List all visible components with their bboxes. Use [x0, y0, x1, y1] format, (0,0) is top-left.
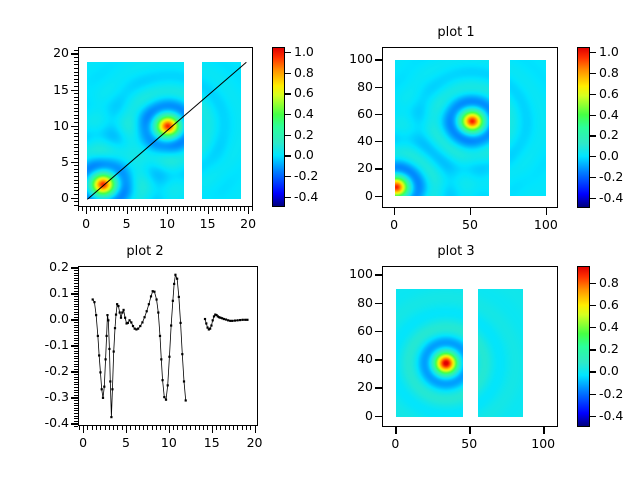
x-minor-tick	[195, 426, 196, 430]
data-point-marker	[150, 295, 152, 297]
y-minor-tick	[74, 288, 78, 289]
colorbar-top-right	[577, 47, 590, 208]
y-minor-tick	[74, 358, 78, 359]
y-minor-tick	[74, 75, 78, 76]
y-minor-tick	[74, 140, 78, 141]
x-minor-tick	[250, 426, 251, 430]
colorbar-tick	[590, 394, 596, 395]
y-ticklabel: 40	[313, 133, 373, 148]
colorbar-ticklabel: 0.4	[599, 319, 619, 334]
y-minor-tick	[74, 61, 78, 62]
data-point-marker	[227, 319, 229, 321]
data-point-marker	[97, 335, 99, 337]
y-minor-tick	[74, 317, 78, 318]
y-major-tick	[375, 87, 382, 88]
x-minor-tick	[151, 207, 152, 211]
y-minor-tick	[74, 413, 78, 414]
colorbar-bottom-right	[577, 266, 590, 427]
x-minor-tick	[232, 207, 233, 211]
data-point-marker	[176, 278, 178, 280]
y-major-tick	[71, 423, 78, 424]
data-point-marker	[165, 399, 167, 401]
y-ticklabel: -0.1	[9, 337, 69, 352]
x-minor-tick	[98, 207, 99, 211]
y-major-tick	[375, 387, 382, 388]
x-ticklabel: 0	[370, 436, 420, 451]
data-point-marker	[108, 348, 110, 350]
data-point-marker	[92, 298, 94, 300]
y-minor-tick	[74, 86, 78, 87]
y-ticklabel: 0.1	[9, 285, 69, 300]
colorbar-ticklabel: 0.0	[294, 147, 314, 162]
data-point-marker	[155, 298, 157, 300]
x-minor-tick	[173, 426, 174, 430]
y-minor-tick	[74, 421, 78, 422]
colorbar-tick	[285, 114, 291, 115]
y-minor-tick	[74, 364, 78, 365]
y-major-tick	[71, 371, 78, 372]
y-minor-tick	[74, 111, 78, 112]
y-minor-tick	[74, 332, 78, 333]
y-minor-tick	[74, 356, 78, 357]
x-minor-tick	[246, 426, 247, 430]
y-minor-tick	[74, 169, 78, 170]
colorbar-ticklabel: 0.8	[599, 65, 619, 80]
y-minor-tick	[74, 325, 78, 326]
y-minor-tick	[74, 353, 78, 354]
x-major-tick	[127, 207, 128, 214]
x-minor-tick	[186, 426, 187, 430]
data-point-marker	[139, 325, 141, 327]
line-path	[205, 315, 247, 330]
y-minor-tick	[74, 379, 78, 380]
x-minor-tick	[187, 207, 188, 211]
axes-top-left	[78, 47, 253, 207]
y-major-tick	[71, 162, 78, 163]
colorbar-tick	[590, 135, 596, 136]
data-point-marker	[170, 324, 172, 326]
y-major-tick	[375, 303, 382, 304]
y-minor-tick	[74, 390, 78, 391]
y-minor-tick	[74, 72, 78, 73]
colorbar-tick	[285, 155, 291, 156]
y-minor-tick	[74, 426, 78, 427]
x-minor-tick	[135, 207, 136, 211]
x-minor-tick	[123, 207, 124, 211]
x-minor-tick	[240, 207, 241, 211]
y-major-tick	[71, 90, 78, 91]
y-minor-tick	[74, 115, 78, 116]
data-point-marker	[132, 325, 134, 327]
colorbar-tick	[590, 305, 596, 306]
y-minor-tick	[74, 392, 78, 393]
y-minor-tick	[74, 403, 78, 404]
data-point-marker	[121, 311, 123, 313]
data-point-marker	[117, 305, 119, 307]
y-minor-tick	[74, 180, 78, 181]
y-minor-tick	[74, 100, 78, 101]
x-minor-tick	[195, 207, 196, 211]
x-minor-tick	[102, 207, 103, 211]
data-point-marker	[210, 324, 212, 326]
y-minor-tick	[74, 187, 78, 188]
x-ticklabel: 0	[369, 217, 419, 232]
y-ticklabel: 0	[313, 188, 373, 203]
colorbar-gradient	[578, 267, 589, 426]
x-minor-tick	[139, 207, 140, 211]
y-minor-tick	[74, 304, 78, 305]
y-major-tick	[375, 274, 382, 275]
colorbar-ticklabel: -0.4	[599, 408, 623, 423]
x-major-tick	[470, 208, 471, 215]
colorbar-ticklabel: 0.0	[599, 148, 619, 163]
y-ticklabel: -0.2	[9, 363, 69, 378]
y-minor-tick	[74, 93, 78, 94]
data-point-marker	[120, 317, 122, 319]
data-point-marker	[223, 318, 225, 320]
x-minor-tick	[147, 426, 148, 430]
x-minor-tick	[212, 207, 213, 211]
colorbar-tick	[590, 177, 596, 178]
y-ticklabel: -0.4	[9, 415, 69, 430]
data-point-marker	[107, 319, 109, 321]
y-ticklabel: 0.2	[9, 259, 69, 274]
data-point-marker	[231, 320, 233, 322]
subplot-bottom-left: plot 2 05101520-0.4-0.3-0.2-0.10.00.10.2	[0, 240, 320, 480]
colorbar-tick	[285, 93, 291, 94]
colorbar-tick	[590, 371, 596, 372]
data-point-marker	[172, 300, 174, 302]
data-point-marker	[101, 388, 103, 390]
x-minor-tick	[159, 207, 160, 211]
data-point-marker	[109, 380, 111, 382]
data-point-marker	[130, 321, 132, 323]
y-minor-tick	[74, 369, 78, 370]
colorbar-ticklabel: 0.4	[294, 106, 314, 121]
x-major-tick	[86, 207, 87, 214]
y-major-tick	[375, 416, 382, 417]
y-ticklabel: 0	[9, 190, 69, 205]
x-minor-tick	[94, 207, 95, 211]
y-ticklabel: 15	[9, 82, 69, 97]
data-point-marker	[111, 388, 113, 390]
y-minor-tick	[74, 278, 78, 279]
x-minor-tick	[191, 207, 192, 211]
x-minor-tick	[252, 207, 253, 211]
y-minor-tick	[74, 286, 78, 287]
colorbar-ticklabel: 0.6	[599, 86, 619, 101]
x-major-tick	[208, 207, 209, 214]
x-minor-tick	[177, 426, 178, 430]
data-point-marker	[153, 291, 155, 293]
y-minor-tick	[74, 158, 78, 159]
y-major-tick	[375, 59, 382, 60]
x-ticklabel: 20	[223, 216, 273, 231]
x-minor-tick	[90, 207, 91, 211]
y-ticklabel: 20	[9, 45, 69, 60]
colorbar-ticklabel: 0.6	[599, 297, 619, 312]
y-minor-tick	[74, 165, 78, 166]
colorbar-tick	[285, 52, 291, 53]
y-minor-tick	[74, 330, 78, 331]
colorbar-ticklabel: -0.2	[599, 386, 623, 401]
y-minor-tick	[74, 416, 78, 417]
y-minor-tick	[74, 194, 78, 195]
y-ticklabel: 80	[313, 295, 373, 310]
x-minor-tick	[225, 426, 226, 430]
y-minor-tick	[74, 361, 78, 362]
x-minor-tick	[114, 207, 115, 211]
colorbar-gradient	[578, 48, 589, 207]
data-point-marker	[163, 396, 165, 398]
x-major-tick	[469, 427, 470, 434]
x-minor-tick	[117, 426, 118, 430]
x-minor-tick	[96, 426, 97, 430]
y-minor-tick	[74, 301, 78, 302]
data-point-marker	[234, 319, 236, 321]
y-minor-tick	[74, 374, 78, 375]
data-point-marker	[236, 319, 238, 321]
y-minor-tick	[74, 340, 78, 341]
y-ticklabel: 10	[9, 118, 69, 133]
data-point-marker	[102, 397, 104, 399]
y-ticklabel: -0.3	[9, 389, 69, 404]
y-major-tick	[375, 168, 382, 169]
y-minor-tick	[74, 176, 78, 177]
figure-canvas: 0510152005101520 -0.4-0.20.00.20.40.60.8…	[0, 0, 640, 480]
y-ticklabel: 0.0	[9, 311, 69, 326]
data-point-marker	[159, 335, 161, 337]
x-minor-tick	[224, 207, 225, 211]
y-minor-tick	[74, 395, 78, 396]
y-minor-tick	[74, 405, 78, 406]
x-minor-tick	[155, 207, 156, 211]
y-minor-tick	[74, 273, 78, 274]
y-minor-tick	[74, 338, 78, 339]
x-minor-tick	[82, 207, 83, 211]
x-major-tick	[126, 426, 127, 433]
y-ticklabel: 80	[313, 79, 373, 94]
heatmap-patch-a	[87, 62, 184, 199]
data-point-marker	[174, 274, 176, 276]
y-minor-tick	[74, 410, 78, 411]
data-point-marker	[143, 316, 145, 318]
data-point-marker	[137, 328, 139, 330]
x-ticklabel: 20	[230, 435, 280, 450]
data-point-marker	[146, 310, 148, 312]
x-minor-tick	[105, 426, 106, 430]
y-ticklabel: 20	[313, 160, 373, 175]
x-minor-tick	[175, 207, 176, 211]
plot-title-1: plot 1	[320, 25, 592, 40]
x-minor-tick	[229, 426, 230, 430]
data-point-marker	[181, 353, 183, 355]
y-minor-tick	[74, 151, 78, 152]
y-ticklabel: 100	[313, 266, 373, 281]
x-minor-tick	[122, 426, 123, 430]
x-minor-tick	[152, 426, 153, 430]
x-minor-tick	[199, 426, 200, 430]
y-ticklabel: 5	[9, 154, 69, 169]
y-minor-tick	[74, 133, 78, 134]
colorbar-ticklabel: 0.8	[599, 275, 619, 290]
colorbar-tick	[285, 73, 291, 74]
colorbar-ticklabel: -0.4	[599, 190, 623, 205]
y-major-tick	[71, 126, 78, 127]
axes-bottom-left	[78, 266, 258, 426]
data-point-marker	[212, 319, 214, 321]
colorbar-ticklabel: 0.2	[294, 127, 314, 142]
data-point-marker	[93, 301, 95, 303]
x-minor-tick	[143, 426, 144, 430]
x-minor-tick	[228, 207, 229, 211]
data-point-marker	[110, 416, 112, 418]
y-minor-tick	[74, 154, 78, 155]
y-ticklabel: 100	[313, 51, 373, 66]
y-minor-tick	[74, 314, 78, 315]
x-major-tick	[546, 208, 547, 215]
data-point-marker	[148, 303, 150, 305]
data-point-marker	[98, 354, 100, 356]
data-point-marker	[141, 321, 143, 323]
x-minor-tick	[216, 426, 217, 430]
y-ticklabel: 20	[313, 379, 373, 394]
x-minor-tick	[135, 426, 136, 430]
y-minor-tick	[74, 172, 78, 173]
x-minor-tick	[130, 426, 131, 430]
line-path	[93, 275, 186, 417]
colorbar-ticklabel: 1.0	[599, 44, 619, 59]
colorbar-tick	[590, 73, 596, 74]
colorbar-tick	[590, 198, 596, 199]
y-minor-tick	[74, 147, 78, 148]
y-minor-tick	[74, 366, 78, 367]
y-minor-tick	[74, 382, 78, 383]
x-minor-tick	[109, 426, 110, 430]
colorbar-ticklabel: 0.8	[294, 65, 314, 80]
colorbar-ticklabel: 0.0	[599, 363, 619, 378]
x-minor-tick	[204, 207, 205, 211]
x-minor-tick	[113, 426, 114, 430]
y-major-tick	[71, 293, 78, 294]
x-minor-tick	[100, 426, 101, 430]
y-minor-tick	[74, 64, 78, 65]
y-minor-tick	[74, 377, 78, 378]
y-minor-tick	[74, 280, 78, 281]
axes-bottom-right	[382, 266, 558, 427]
x-major-tick	[394, 208, 395, 215]
data-point-marker	[114, 327, 116, 329]
y-minor-tick	[74, 190, 78, 191]
x-minor-tick	[143, 207, 144, 211]
x-ticklabel: 50	[444, 436, 494, 451]
y-major-tick	[375, 141, 382, 142]
x-minor-tick	[237, 426, 238, 430]
x-minor-tick	[220, 207, 221, 211]
y-major-tick	[71, 53, 78, 54]
x-minor-tick	[78, 207, 79, 211]
y-major-tick	[375, 196, 382, 197]
y-minor-tick	[74, 306, 78, 307]
data-point-marker	[185, 399, 187, 401]
y-minor-tick	[74, 283, 78, 284]
y-minor-tick	[74, 327, 78, 328]
y-minor-tick	[74, 104, 78, 105]
y-minor-tick	[74, 322, 78, 323]
x-minor-tick	[242, 426, 243, 430]
data-point-marker	[104, 358, 106, 360]
x-minor-tick	[171, 207, 172, 211]
x-minor-tick	[200, 207, 201, 211]
y-ticklabel: 0	[313, 408, 373, 423]
y-major-tick	[375, 359, 382, 360]
data-point-marker	[178, 296, 180, 298]
x-minor-tick	[179, 207, 180, 211]
x-minor-tick	[182, 426, 183, 430]
colorbar-ticklabel: 0.4	[599, 107, 619, 122]
x-minor-tick	[183, 207, 184, 211]
y-major-tick	[71, 345, 78, 346]
data-point-marker	[205, 322, 207, 324]
data-point-marker	[95, 314, 97, 316]
y-ticklabel: 60	[313, 106, 373, 121]
x-ticklabel: 100	[521, 217, 571, 232]
x-minor-tick	[160, 426, 161, 430]
y-minor-tick	[74, 129, 78, 130]
y-minor-tick	[74, 144, 78, 145]
y-minor-tick	[74, 183, 78, 184]
colorbar-tick	[285, 135, 291, 136]
y-minor-tick	[74, 400, 78, 401]
data-point-marker	[160, 358, 162, 360]
colorbar-tick	[590, 156, 596, 157]
data-point-marker	[246, 319, 248, 321]
subplot-bottom-right: plot 3 050100020406080100 -0.4-0.20.00.2…	[320, 240, 640, 480]
y-minor-tick	[74, 291, 78, 292]
data-point-marker	[244, 319, 246, 321]
y-major-tick	[375, 114, 382, 115]
colorbar-ticklabel: -0.2	[599, 169, 623, 184]
data-point-marker	[106, 314, 108, 316]
x-minor-tick	[163, 207, 164, 211]
colorbar-ticklabel: 0.6	[294, 85, 314, 100]
colorbar-gradient	[273, 48, 284, 206]
y-major-tick	[71, 267, 78, 268]
y-major-tick	[71, 397, 78, 398]
y-minor-tick	[74, 384, 78, 385]
heatmap-patch-b	[478, 289, 523, 417]
colorbar-ticklabel: 0.2	[599, 341, 619, 356]
plot-title-3: plot 3	[320, 244, 592, 259]
x-minor-tick	[79, 426, 80, 430]
data-point-marker	[106, 335, 108, 337]
y-ticklabel: 60	[313, 323, 373, 338]
colorbar-tick	[285, 176, 291, 177]
x-minor-tick	[131, 207, 132, 211]
data-point-marker	[122, 309, 124, 311]
y-minor-tick	[74, 97, 78, 98]
y-major-tick	[71, 198, 78, 199]
colorbar-tick	[590, 115, 596, 116]
y-minor-tick	[74, 387, 78, 388]
data-point-marker	[167, 384, 169, 386]
y-minor-tick	[74, 343, 78, 344]
x-minor-tick	[220, 426, 221, 430]
colorbar-tick	[590, 94, 596, 95]
x-minor-tick	[87, 426, 88, 430]
x-minor-tick	[190, 426, 191, 430]
y-minor-tick	[74, 108, 78, 109]
